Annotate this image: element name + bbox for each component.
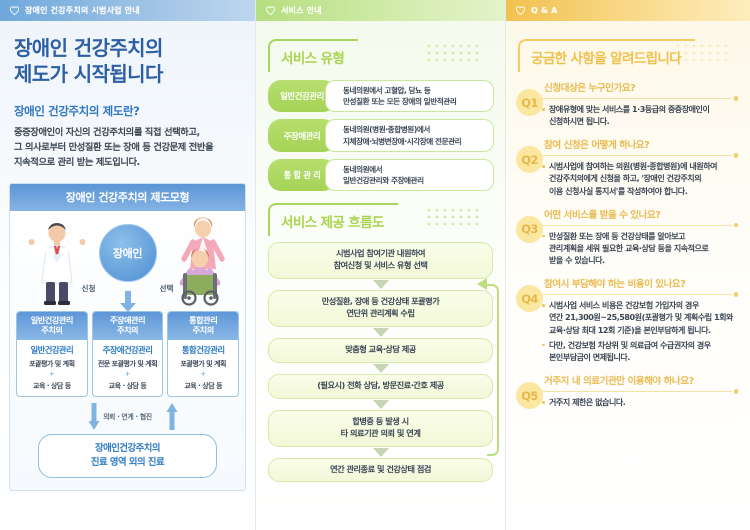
flow-connector xyxy=(268,363,493,374)
ribbon-right-label: Q & A xyxy=(531,6,558,15)
question-badge: Q5 xyxy=(516,382,543,409)
dot-grid-decoration-icon xyxy=(425,43,487,67)
diagram-inner: 장애인 신청 선택 일반건강관리 주치의 xyxy=(10,211,245,490)
body-line-1: 중증장애인이 자신의 건강주치의를 직접 선택하고, xyxy=(14,125,242,140)
role-column: 일반건강관리 주치의 일반건강관리 포괄평가 및 계획 + 교육 · 상담 등 xyxy=(16,311,88,397)
page-title-line2: 제도가 시작됩니다 xyxy=(14,61,242,87)
flow-step-line2: 참여신청 및 서비스 유형 선택 xyxy=(275,260,486,272)
flow-step-line2: 연단위 관리계획 수립 xyxy=(275,308,486,320)
flow-step: 만성질환, 장애 등 건강상태 포괄평가 연단위 관리계획 수립 xyxy=(268,290,493,327)
panel-program-intro: 장애인 건강주치의 시범사업 안내 장애인 건강주치의 제도가 시작됩니다 장애… xyxy=(0,0,255,530)
faq-content: 참여시 부담해야 하는 비용이 있나요? 시범사업 서비스 비용은 건강보험 가… xyxy=(516,276,738,364)
outer-box-line2: 진료 영역 외의 진료 xyxy=(43,456,212,470)
faq-content: 신청대상은 누구인가요? 장애유형에 맞는 서비스를 1·3등급의 중증장애인이… xyxy=(516,80,738,128)
role-head-line2: 주치의 xyxy=(169,325,237,336)
diagram-role-columns: 일반건강관리 주치의 일반건강관리 포괄평가 및 계획 + 교육 · 상담 등 … xyxy=(16,311,239,397)
section-title-box: 서비스 제공 흐름도 xyxy=(268,203,398,236)
role-head-line2: 주치의 xyxy=(94,325,162,336)
role-column-body: 일반건강관리 포괄평가 및 계획 + 교육 · 상담 등 xyxy=(17,340,87,396)
role-body-line1: 포괄평가 및 계획 xyxy=(170,359,236,369)
page-title: 장애인 건강주치의 제도가 시작됩니다 xyxy=(14,35,242,88)
outer-box-line1: 장애인건강주치의 xyxy=(43,442,212,456)
chevron-down-icon xyxy=(373,280,389,289)
question-divider xyxy=(542,389,738,394)
flow-step-line1: 시범사업 참여기관 내원하여 xyxy=(275,248,486,260)
referral-label: 의뢰 · 연계 · 협진 xyxy=(103,411,152,421)
question-text: 거주지 내 의료기관만 이용해야 하나요? xyxy=(538,373,738,387)
role-body-title: 일반건강관리 xyxy=(19,344,85,356)
chevron-down-icon xyxy=(373,448,389,457)
flow-step: 합병증 등 발생 시 타 의료기관 의뢰 및 연계 xyxy=(268,410,493,447)
role-body-line2: 교육 · 상담 등 xyxy=(170,381,236,391)
flow-step-line1: 만성질환, 장애 등 건강상태 포괄평가 xyxy=(275,296,486,308)
question-divider xyxy=(542,153,738,158)
flow-step-line1: (필요시) 전화 상담, 방문진료·간호 제공 xyxy=(275,380,486,392)
flow-word-apply: 신청 xyxy=(82,283,96,294)
ribbon-right: Q & A xyxy=(506,0,750,21)
service-desc-line2: 일반건강관리와 주장애관리 xyxy=(343,175,487,186)
arrow-left-icon xyxy=(477,278,491,290)
answer-line: 다만, 건강보험 차상위 및 의료급여 수급권자의 경우 xyxy=(549,340,738,352)
role-body-line2: 교육 · 상담 등 xyxy=(95,381,161,391)
section-title-text: 서비스 제공 흐름도 xyxy=(281,211,384,231)
answer-block: 시범사업에 참여하는 의원(병원·종합병원)에 내원하여 건강주치의에게 신청을… xyxy=(538,161,738,197)
flow-connector xyxy=(268,447,493,458)
section-title-box: 서비스 유형 xyxy=(268,39,358,72)
diagram-actors-row: 장애인 신청 선택 xyxy=(16,217,239,309)
faq-content: 어떤 서비스를 받을 수 있나요? 만성질환 또는 장애 등 건강상태를 알아보… xyxy=(516,207,738,267)
arrow-down-icon xyxy=(119,291,137,313)
answer-paragraph: 시범사업에 참여하는 의원(병원·종합병원)에 내원하여 건강주치의에게 신청을… xyxy=(542,161,738,197)
service-type-row: 통 합 관 리 동네의원에서 일반건강관리와 주장애관리 xyxy=(268,159,494,191)
faq-content: 참여 신청은 어떻게 하나요? 시범사업에 참여하는 의원(병원·종합병원)에 … xyxy=(516,137,738,197)
answer-paragraph: 거주지 제한은 없습니다. xyxy=(542,397,738,409)
center-node-label: 장애인 xyxy=(113,245,142,261)
answer-line: 받을 수 있습니다. xyxy=(549,255,738,267)
diagram-center-node: 장애인 xyxy=(99,224,157,282)
role-column: 통합관리 주치의 통합건강관리 포괄평가 및 계획 + 교육 · 상담 등 xyxy=(167,311,239,397)
role-column: 주장애관리 주치의 주장애건강관리 전문 포괄평가 및 계획 + 교육 · 상담… xyxy=(92,311,164,397)
heart-icon xyxy=(515,5,526,16)
flow-step: 연간 관리종료 및 건강상태 점검 xyxy=(268,458,493,483)
page-title-line1: 장애인 건강주치의 xyxy=(14,36,163,60)
flow-connector xyxy=(268,279,493,290)
flow-step-line1: 연간 관리종료 및 건강상태 점검 xyxy=(275,464,486,476)
faq-item: Q1 신청대상은 누구인가요? 장애유형에 맞는 서비스를 1·3등급의 중증장… xyxy=(516,80,738,128)
section-subheading: 장애인 건강주치의 제도란? xyxy=(14,103,242,119)
role-column-head: 통합관리 주치의 xyxy=(168,312,238,340)
question-text: 어떤 서비스를 받을 수 있나요? xyxy=(538,207,738,221)
answer-line: 관리계획을 세워 필요한 교육·상담 등을 지속적으로 xyxy=(549,243,738,255)
panel-faq: Q & A 궁금한 사항을 알려드립니다 Q1 신청대상은 누구인가요? xyxy=(505,0,750,530)
service-desc-line1: 동네의원에서 xyxy=(343,164,487,175)
question-divider xyxy=(542,96,738,101)
chevron-down-icon xyxy=(373,328,389,337)
question-divider xyxy=(542,292,738,297)
answer-paragraph: 시범사업 서비스 비용은 건강보험 가입자의 경우 연간 21,300원~25,… xyxy=(542,300,738,336)
heart-icon xyxy=(265,5,276,16)
role-body-line2: 교육 · 상담 등 xyxy=(19,381,85,391)
doctor-illustration-icon xyxy=(28,221,86,305)
plus-icon: + xyxy=(19,371,85,378)
left-panel-body: 장애인 건강주치의 제도가 시작됩니다 장애인 건강주치의 제도란? 중증장애인… xyxy=(0,21,255,170)
role-column-head: 일반건강관리 주치의 xyxy=(17,312,87,340)
answer-line: 신청하시면 됩니다. xyxy=(549,116,738,128)
flow-connector xyxy=(268,327,493,338)
question-text: 참여시 부담해야 하는 비용이 있나요? xyxy=(538,276,738,290)
faq-item: Q4 참여시 부담해야 하는 비용이 있나요? 시범사업 서비스 비용은 건강보… xyxy=(516,276,738,364)
answer-block: 거주지 제한은 없습니다. xyxy=(538,397,738,409)
answer-line: 건강주치의에게 신청을 하고, '장애인 건강주치의 xyxy=(549,173,738,185)
role-body-title: 통합건강관리 xyxy=(170,344,236,356)
ribbon-mid-label: 서비스 안내 xyxy=(281,5,322,16)
section-title-text: 궁금한 사항을 알려드립니다 xyxy=(531,47,681,67)
service-type-description: 동네의원에서 고혈압, 당뇨 등 만성질환 또는 모든 장애의 일반적관리 xyxy=(325,80,494,112)
arrow-down-icon xyxy=(88,403,100,431)
role-column-body: 통합건강관리 포괄평가 및 계획 + 교육 · 상담 등 xyxy=(168,340,238,396)
answer-block: 만성질환 또는 장애 등 건강상태를 알아보고 관리계획을 세워 필요한 교육·… xyxy=(538,231,738,267)
answer-line: 만성질환 또는 장애 등 건강상태를 알아보고 xyxy=(549,231,738,243)
service-desc-line2: 지체장애·뇌병변장애·시각장애 전문관리 xyxy=(343,136,487,147)
answer-block: 장애유형에 맞는 서비스를 1·3등급의 중증장애인이 신청하시면 됩니다. xyxy=(538,104,738,128)
section-title-text: 서비스 유형 xyxy=(281,47,344,67)
role-head-line2: 주치의 xyxy=(18,325,86,336)
role-body-title: 주장애건강관리 xyxy=(95,344,161,356)
service-type-description: 동네의원(병원·종합병원)에서 지체장애·뇌병변장애·시각장애 전문관리 xyxy=(325,119,494,151)
answer-block: 시범사업 서비스 비용은 건강보험 가입자의 경우 연간 21,300원~25,… xyxy=(538,300,738,364)
plus-icon: + xyxy=(170,371,236,378)
body-line-2: 그 의사로부터 만성질환 또는 장애 등 건강문제 전반을 xyxy=(14,140,242,155)
heart-icon xyxy=(9,5,20,16)
service-desc-line2: 만성질환 또는 모든 장애의 일반적관리 xyxy=(343,96,487,107)
question-badge: Q1 xyxy=(516,89,543,116)
faq-item: Q5 거주지 내 의료기관만 이용해야 하나요? 거주지 제한은 없습니다. xyxy=(516,373,738,409)
answer-line: 시범사업 서비스 비용은 건강보험 가입자의 경우 xyxy=(549,300,738,312)
plus-icon: + xyxy=(95,371,161,378)
diagram-title: 장애인 건강주치의 제도모형 xyxy=(10,184,245,211)
chevron-down-icon xyxy=(373,364,389,373)
arrow-up-icon xyxy=(166,403,178,431)
service-type-description: 동네의원에서 일반건강관리와 주장애관리 xyxy=(325,159,494,191)
section-title-box: 궁금한 사항을 알려드립니다 xyxy=(518,39,695,72)
answer-paragraph: 만성질환 또는 장애 등 건강상태를 알아보고 관리계획을 세워 필요한 교육·… xyxy=(542,231,738,267)
role-head-line1: 일반건강관리 xyxy=(18,315,86,326)
answer-paragraph: 다만, 건강보험 차상위 및 의료급여 수급권자의 경우 본인부담금이 면제됩니… xyxy=(542,340,738,364)
role-column-head: 주장애관리 주치의 xyxy=(93,312,163,340)
section-title-faq: 궁금한 사항을 알려드립니다 xyxy=(518,39,738,72)
role-head-line1: 통합관리 xyxy=(169,315,237,326)
outer-care-box: 장애인건강주치의 진료 영역 외의 진료 xyxy=(38,434,217,478)
answer-paragraph: 장애유형에 맞는 서비스를 1·3등급의 중증장애인이 신청하시면 됩니다. xyxy=(542,104,738,128)
body-line-3: 지속적으로 관리 받는 제도입니다. xyxy=(14,155,242,170)
chevron-down-icon xyxy=(373,400,389,409)
ribbon-left-label: 장애인 건강주치의 시범사업 안내 xyxy=(25,5,140,16)
diagram-referral-row: 의뢰 · 연계 · 협진 xyxy=(16,400,239,434)
question-divider xyxy=(542,223,738,228)
brochure-page: 장애인 건강주치의 시범사업 안내 장애인 건강주치의 제도가 시작됩니다 장애… xyxy=(0,0,750,530)
answer-line: 시범사업에 참여하는 의원(병원·종합병원)에 내원하여 xyxy=(549,161,738,173)
faq-content: 거주지 내 의료기관만 이용해야 하나요? 거주지 제한은 없습니다. xyxy=(516,373,738,409)
service-type-row: 일반건강관리 동네의원에서 고혈압, 당뇨 등 만성질환 또는 모든 장애의 일… xyxy=(268,80,494,112)
dot-grid-decoration-icon xyxy=(425,207,487,231)
flow-connector xyxy=(268,399,493,410)
flow-step-line1: 맞춤형 교육·상담 제공 xyxy=(275,344,486,356)
answer-line: 거주지 제한은 없습니다. xyxy=(549,397,738,409)
ribbon-mid: 서비스 안내 xyxy=(256,0,505,21)
flow-step: 맞춤형 교육·상담 제공 xyxy=(268,338,493,363)
question-text: 신청대상은 누구인가요? xyxy=(538,80,738,94)
faq-item: Q3 어떤 서비스를 받을 수 있나요? 만성질환 또는 장애 등 건강상태를 … xyxy=(516,207,738,267)
question-text: 참여 신청은 어떻게 하나요? xyxy=(538,137,738,151)
panel-service-guide: 서비스 안내 서비스 유형 일반건강관리 동네의원에서 고혈압, 당뇨 등 만성… xyxy=(255,0,505,530)
answer-line: 이용 신청사실 통지서'를 작성하여야 합니다. xyxy=(549,186,738,198)
program-model-diagram: 장애인 건강주치의 제도모형 xyxy=(9,183,246,491)
role-body-line1: 전문 포괄평가 및 계획 xyxy=(95,359,161,369)
faq-list: Q1 신청대상은 누구인가요? 장애유형에 맞는 서비스를 1·3등급의 중증장… xyxy=(516,80,738,409)
faq-item: Q2 참여 신청은 어떻게 하나요? 시범사업에 참여하는 의원(병원·종합병원… xyxy=(516,137,738,197)
section-title-service-types: 서비스 유형 xyxy=(268,39,493,72)
ribbon-left: 장애인 건강주치의 시범사업 안내 xyxy=(0,0,255,21)
service-desc-line1: 동네의원(병원·종합병원)에서 xyxy=(343,124,487,135)
flow-step-line2: 타 의료기관 의뢰 및 연계 xyxy=(275,428,486,440)
wheelchair-patient-illustration-icon xyxy=(167,217,233,307)
answer-line: 연간 21,300원~25,580원(포괄평가 및 계획수립 1회와 xyxy=(549,312,738,324)
service-flow-chart: 시범사업 참여기관 내원하여 참여신청 및 서비스 유형 선택 만성질환, 장애… xyxy=(268,242,493,482)
role-column-body: 주장애건강관리 전문 포괄평가 및 계획 + 교육 · 상담 등 xyxy=(93,340,163,396)
service-desc-line1: 동네의원에서 고혈압, 당뇨 등 xyxy=(343,85,487,96)
service-type-row: 주장애관리 동네의원(병원·종합병원)에서 지체장애·뇌병변장애·시각장애 전문… xyxy=(268,119,494,151)
answer-line: 교육·상담 최대 12회 기준)을 본인부담하게 됩니다. xyxy=(549,325,738,337)
flow-word-select: 선택 xyxy=(160,283,174,294)
role-head-line1: 주장애관리 xyxy=(94,315,162,326)
flow-step-line1: 합병증 등 발생 시 xyxy=(275,416,486,428)
section-title-service-flow: 서비스 제공 흐름도 xyxy=(268,203,493,236)
service-type-list: 일반건강관리 동네의원에서 고혈압, 당뇨 등 만성질환 또는 모든 장애의 일… xyxy=(268,80,494,191)
answer-line: 장애유형에 맞는 서비스를 1·3등급의 중증장애인이 xyxy=(549,104,738,116)
flow-step: 시범사업 참여기관 내원하여 참여신청 및 서비스 유형 선택 xyxy=(268,242,493,279)
flow-step: (필요시) 전화 상담, 방문진료·간호 제공 xyxy=(268,374,493,399)
answer-line: 본인부담금이 면제됩니다. xyxy=(549,352,738,364)
role-body-line1: 포괄평가 및 계획 xyxy=(19,359,85,369)
question-badge: Q3 xyxy=(516,216,543,243)
section-body-text: 중증장애인이 자신의 건강주치의를 직접 선택하고, 그 의사로부터 만성질환 … xyxy=(14,125,242,170)
